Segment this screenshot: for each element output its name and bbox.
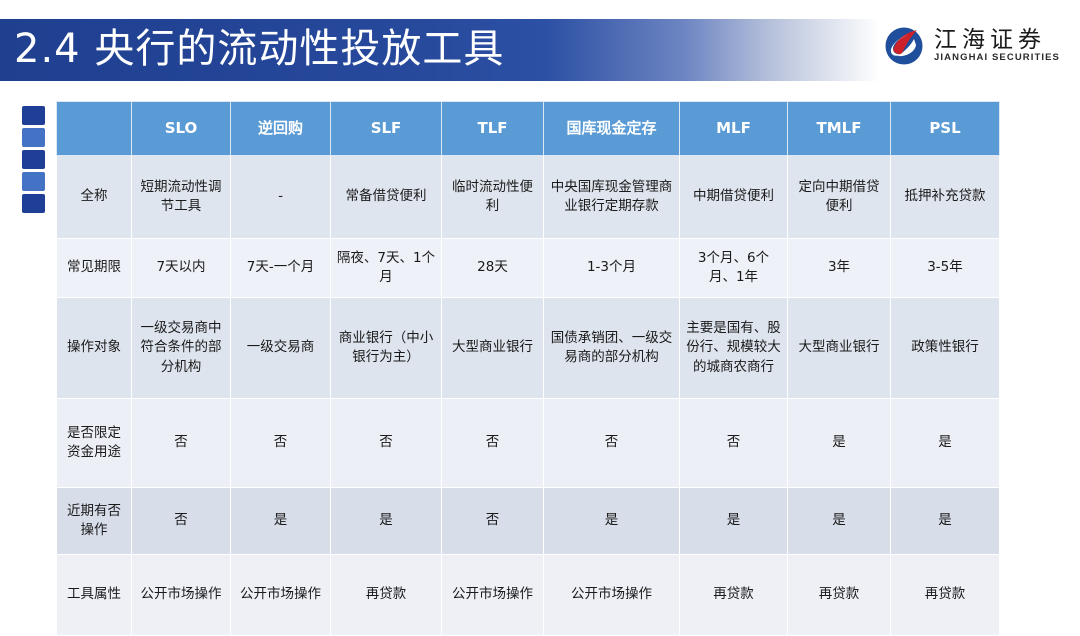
cell-r6-c2: 公开市场操作: [231, 555, 331, 636]
decor-square-4: [22, 172, 45, 191]
cell-r4-c6: 否: [680, 399, 788, 488]
cell-r5-c1: 否: [132, 488, 231, 555]
cell-r3-c3: 商业银行（中小银行为主）: [331, 298, 442, 399]
column-header-7: TMLF: [788, 102, 891, 156]
cell-r1-c5: 中央国库现金管理商业银行定期存款: [544, 156, 680, 239]
cell-r2-c8: 3-5年: [891, 239, 1000, 298]
page-title: 2.4 央行的流动性投放工具: [14, 29, 504, 69]
decor-square-1: [22, 106, 45, 125]
cell-r3-c4: 大型商业银行: [442, 298, 544, 399]
liquidity-tools-table: SLO逆回购SLFTLF国库现金定存MLFTMLFPSL 全称短期流动性调节工具…: [56, 101, 1000, 636]
decor-square-5: [22, 194, 45, 213]
table-row: 工具属性公开市场操作公开市场操作再贷款公开市场操作公开市场操作再贷款再贷款再贷款: [57, 555, 1000, 636]
table-row: 是否限定资金用途否否否否否否是是: [57, 399, 1000, 488]
cell-r4-c4: 否: [442, 399, 544, 488]
cell-r2-c4: 28天: [442, 239, 544, 298]
cell-r2-c5: 1-3个月: [544, 239, 680, 298]
cell-r4-c2: 否: [231, 399, 331, 488]
table-row: 常见期限7天以内7天-一个月隔夜、7天、1个月28天1-3个月3个月、6个月、1…: [57, 239, 1000, 298]
cell-r3-c7: 大型商业银行: [788, 298, 891, 399]
decor-square-3: [22, 150, 45, 169]
column-header-1: SLO: [132, 102, 231, 156]
row-header-5: 近期有否操作: [57, 488, 132, 555]
jianghai-swoosh-icon: [884, 26, 924, 66]
cell-r2-c3: 隔夜、7天、1个月: [331, 239, 442, 298]
cell-r5-c7: 是: [788, 488, 891, 555]
cell-r2-c1: 7天以内: [132, 239, 231, 298]
cell-r2-c6: 3个月、6个月、1年: [680, 239, 788, 298]
cell-r6-c4: 公开市场操作: [442, 555, 544, 636]
cell-r5-c4: 否: [442, 488, 544, 555]
cell-r1-c3: 常备借贷便利: [331, 156, 442, 239]
table-header-row: SLO逆回购SLFTLF国库现金定存MLFTMLFPSL: [57, 102, 1000, 156]
decor-square-2: [22, 128, 45, 147]
brand-logo: 江海证券 JIANGHAI SECURITIES: [884, 26, 1060, 66]
column-header-4: TLF: [442, 102, 544, 156]
cell-r4-c3: 否: [331, 399, 442, 488]
table-body: 全称短期流动性调节工具-常备借贷便利临时流动性便利中央国库现金管理商业银行定期存…: [57, 156, 1000, 636]
cell-r4-c8: 是: [891, 399, 1000, 488]
title-band: 2.4 央行的流动性投放工具: [0, 19, 880, 81]
table-row: 操作对象一级交易商中符合条件的部分机构一级交易商商业银行（中小银行为主）大型商业…: [57, 298, 1000, 399]
column-header-3: SLF: [331, 102, 442, 156]
cell-r5-c8: 是: [891, 488, 1000, 555]
cell-r5-c5: 是: [544, 488, 680, 555]
cell-r6-c3: 再贷款: [331, 555, 442, 636]
cell-r3-c5: 国债承销团、一级交易商的部分机构: [544, 298, 680, 399]
cell-r4-c1: 否: [132, 399, 231, 488]
cell-r1-c7: 定向中期借贷便利: [788, 156, 891, 239]
table-row: 近期有否操作否是是否是是是是: [57, 488, 1000, 555]
cell-r1-c2: -: [231, 156, 331, 239]
cell-r3-c2: 一级交易商: [231, 298, 331, 399]
row-header-4: 是否限定资金用途: [57, 399, 132, 488]
logo-text-cn: 江海证券: [934, 28, 1046, 52]
cell-r3-c6: 主要是国有、股份行、规模较大的城商农商行: [680, 298, 788, 399]
row-header-2: 常见期限: [57, 239, 132, 298]
cell-r5-c6: 是: [680, 488, 788, 555]
cell-r4-c7: 是: [788, 399, 891, 488]
cell-r1-c4: 临时流动性便利: [442, 156, 544, 239]
cell-r6-c6: 再贷款: [680, 555, 788, 636]
cell-r5-c2: 是: [231, 488, 331, 555]
cell-r2-c2: 7天-一个月: [231, 239, 331, 298]
column-header-5: 国库现金定存: [544, 102, 680, 156]
cell-r3-c1: 一级交易商中符合条件的部分机构: [132, 298, 231, 399]
table-corner-cell: [57, 102, 132, 156]
cell-r1-c1: 短期流动性调节工具: [132, 156, 231, 239]
column-header-2: 逆回购: [231, 102, 331, 156]
cell-r6-c1: 公开市场操作: [132, 555, 231, 636]
logo-text-en: JIANGHAI SECURITIES: [934, 52, 1060, 64]
cell-r1-c6: 中期借贷便利: [680, 156, 788, 239]
row-header-1: 全称: [57, 156, 132, 239]
liquidity-tools-table-wrap: SLO逆回购SLFTLF国库现金定存MLFTMLFPSL 全称短期流动性调节工具…: [56, 101, 999, 636]
cell-r6-c7: 再贷款: [788, 555, 891, 636]
row-header-3: 操作对象: [57, 298, 132, 399]
decor-squares: [22, 106, 45, 213]
cell-r1-c8: 抵押补充贷款: [891, 156, 1000, 239]
cell-r6-c5: 公开市场操作: [544, 555, 680, 636]
cell-r4-c5: 否: [544, 399, 680, 488]
column-header-8: PSL: [891, 102, 1000, 156]
table-row: 全称短期流动性调节工具-常备借贷便利临时流动性便利中央国库现金管理商业银行定期存…: [57, 156, 1000, 239]
cell-r5-c3: 是: [331, 488, 442, 555]
cell-r6-c8: 再贷款: [891, 555, 1000, 636]
column-header-6: MLF: [680, 102, 788, 156]
row-header-6: 工具属性: [57, 555, 132, 636]
cell-r2-c7: 3年: [788, 239, 891, 298]
cell-r3-c8: 政策性银行: [891, 298, 1000, 399]
table-header: SLO逆回购SLFTLF国库现金定存MLFTMLFPSL: [57, 102, 1000, 156]
